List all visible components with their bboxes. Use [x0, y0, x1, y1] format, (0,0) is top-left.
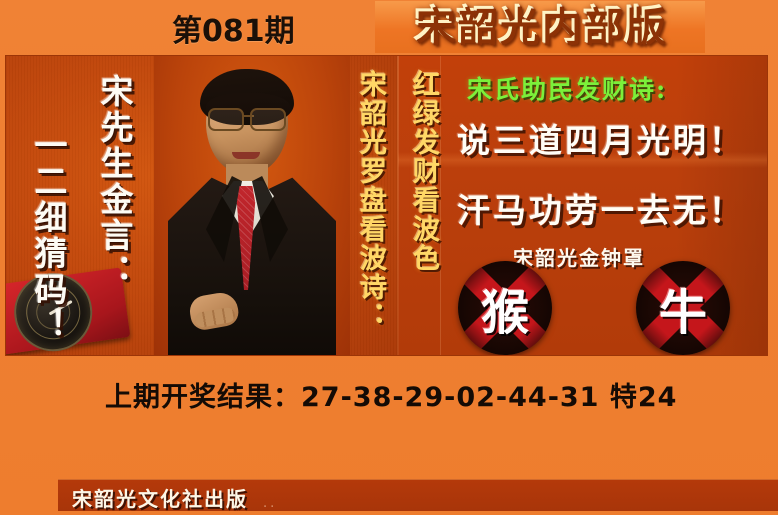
- panel-divider-1: [397, 56, 399, 355]
- right-column: 宋氏助民发财诗: 说三道四月光明！ 汗马功劳一去无！ 宋韶光金钟罩 猴 牛: [443, 56, 768, 355]
- glasses-icon: [206, 108, 288, 128]
- brand-title-text: 宋韶光内部版: [414, 3, 666, 49]
- poster-header: 第081期 宋韶光内部版: [0, 0, 778, 55]
- portrait-photo: [154, 56, 350, 355]
- poem-line-1: 说三道四月光明！: [457, 114, 745, 162]
- glasses-lens-left: [208, 108, 244, 131]
- vertical-text-compass-poem: 宋韶光罗盘看波诗：: [351, 70, 390, 331]
- issue-number: 第081期: [172, 6, 295, 50]
- zodiac-badge-monkey: 猴: [458, 261, 552, 355]
- vertical-text-gold-words: 宋先生金言：: [90, 74, 138, 290]
- poem-line-2: 汗马功劳一去无！: [457, 184, 745, 232]
- lottery-poster: 第081期 宋韶光内部版: [0, 0, 778, 515]
- zodiac-label-ox: 牛: [636, 261, 730, 355]
- main-panel: 宋先生金言： 一二细猜码！ 宋韶光罗盘看波诗： 红绿发财看波色 宋氏助民发财诗:…: [5, 55, 768, 356]
- footer-dots: ..: [263, 496, 277, 511]
- glasses-lens-right: [250, 108, 286, 131]
- previous-draw-result: 上期开奖结果：27-38-29-02-44-31 特24: [105, 375, 677, 414]
- vertical-text-wave-color: 红绿发财看波色: [404, 70, 443, 273]
- vertical-text-guess-code: 一二细猜码！: [24, 128, 72, 344]
- zodiac-label-monkey: 猴: [458, 261, 552, 355]
- footer-band: 宋韶光文化社出版 ..: [58, 479, 778, 511]
- portrait-mouth: [232, 152, 260, 159]
- brand-title: 宋韶光内部版: [375, 1, 705, 53]
- zodiac-badge-ox: 牛: [636, 261, 730, 355]
- poem-heading: 宋氏助民发财诗:: [467, 70, 667, 106]
- publisher-label: 宋韶光文化社出版: [72, 483, 248, 512]
